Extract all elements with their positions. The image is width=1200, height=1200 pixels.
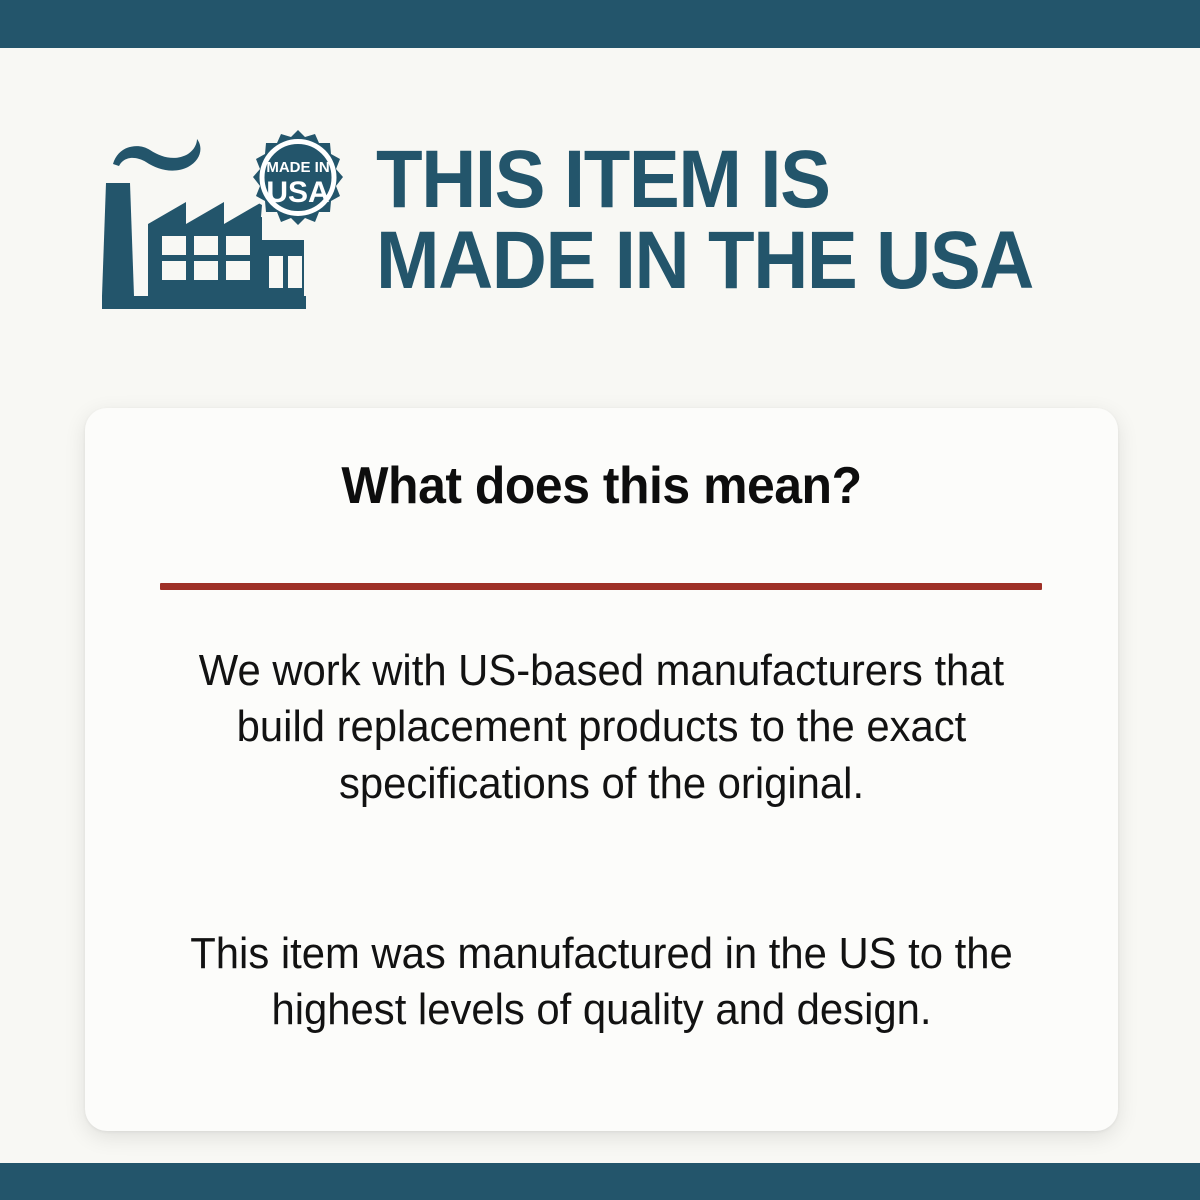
made-in-usa-logo: MADE IN USA — [100, 128, 348, 313]
smoke-icon — [113, 139, 200, 171]
page-title-line-2: MADE IN THE USA — [376, 220, 1142, 301]
card-divider — [160, 583, 1042, 590]
explanation-card: What does this mean? We work with US-bas… — [85, 408, 1118, 1131]
card-paragraph-1: We work with US-based manufacturers that… — [168, 643, 1035, 812]
card-paragraph-2: This item was manufactured in the US to … — [168, 926, 1035, 1039]
top-accent-bar — [0, 0, 1200, 48]
bottom-accent-bar — [0, 1163, 1200, 1200]
page-title: THIS ITEM IS MADE IN THE USA — [376, 139, 1200, 301]
chimney-icon — [102, 183, 134, 296]
made-in-usa-badge-icon: MADE IN USA — [248, 128, 348, 232]
header: MADE IN USA THIS ITEM IS MADE IN THE USA — [0, 100, 1200, 340]
badge-text-bottom: USA — [266, 176, 329, 209]
page-canvas: MADE IN USA THIS ITEM IS MADE IN THE USA… — [0, 48, 1200, 1163]
card-heading: What does this mean? — [106, 456, 1098, 516]
badge-text-top: MADE IN — [266, 159, 329, 176]
page-title-line-1: THIS ITEM IS — [376, 139, 1142, 220]
